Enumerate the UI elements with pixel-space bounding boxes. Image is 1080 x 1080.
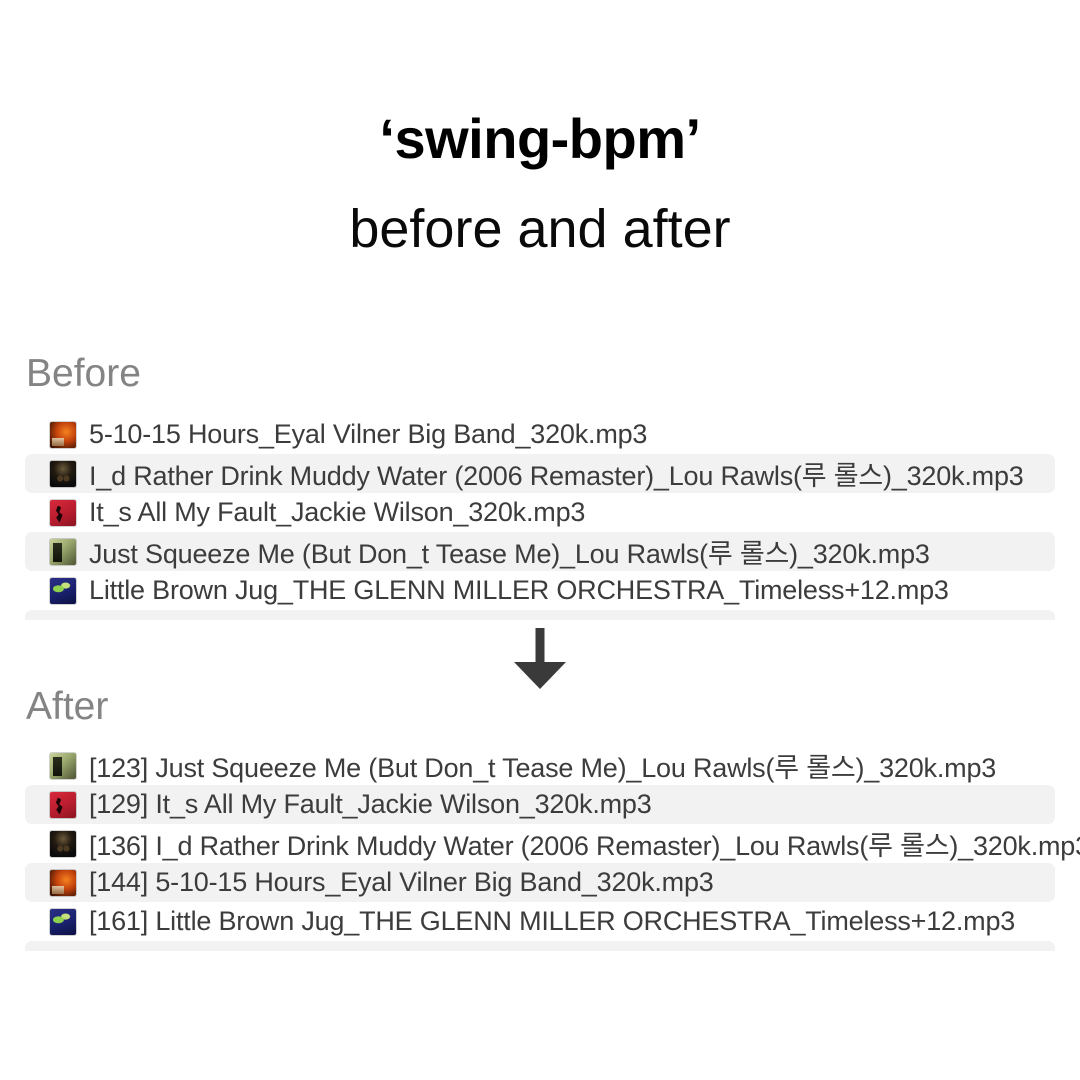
file-row[interactable]: It_s All My Fault_Jackie Wilson_320k.mp3 [25, 493, 1055, 532]
album-art-thumbnail [50, 578, 76, 604]
title-block: ‘swing-bpm’ before and after [0, 108, 1080, 260]
file-row[interactable]: [129] It_s All My Fault_Jackie Wilson_32… [25, 785, 1055, 824]
file-row[interactable]: I_d Rather Drink Muddy Water (2006 Remas… [25, 454, 1055, 493]
file-row[interactable]: [136] I_d Rather Drink Muddy Water (2006… [25, 824, 1055, 863]
file-name: [129] It_s All My Fault_Jackie Wilson_32… [89, 789, 652, 820]
section-label-before: Before [26, 352, 141, 396]
file-name: [144] 5-10-15 Hours_Eyal Vilner Big Band… [89, 867, 714, 898]
file-row[interactable]: [144] 5-10-15 Hours_Eyal Vilner Big Band… [25, 863, 1055, 902]
section-label-after: After [26, 685, 108, 729]
album-art-thumbnail [50, 831, 76, 857]
album-art-thumbnail [50, 870, 76, 896]
page-title: ‘swing-bpm’ [0, 108, 1080, 170]
album-art-thumbnail [50, 909, 76, 935]
file-name: Little Brown Jug_THE GLENN MILLER ORCHES… [89, 575, 949, 606]
file-name: 5-10-15 Hours_Eyal Vilner Big Band_320k.… [89, 419, 647, 450]
file-row[interactable]: [161] Little Brown Jug_THE GLENN MILLER … [25, 902, 1055, 941]
file-name: [161] Little Brown Jug_THE GLENN MILLER … [89, 906, 1015, 937]
album-art-thumbnail [50, 539, 76, 565]
file-name: Just Squeeze Me (But Don_t Tease Me)_Lou… [89, 532, 930, 571]
file-row[interactable]: Little Brown Jug_THE GLENN MILLER ORCHES… [25, 571, 1055, 610]
poster-canvas: ‘swing-bpm’ before and after Before 5-10… [0, 0, 1080, 1080]
file-name: [136] I_d Rather Drink Muddy Water (2006… [89, 824, 1080, 863]
album-art-thumbnail [50, 792, 76, 818]
page-subtitle: before and after [0, 198, 1080, 260]
file-list-before: 5-10-15 Hours_Eyal Vilner Big Band_320k.… [25, 415, 1055, 620]
album-art-thumbnail [50, 422, 76, 448]
file-name: [123] Just Squeeze Me (But Don_t Tease M… [89, 746, 996, 785]
file-row[interactable]: 5-10-15 Hours_Eyal Vilner Big Band_320k.… [25, 415, 1055, 454]
file-row[interactable]: Just Squeeze Me (But Don_t Tease Me)_Lou… [25, 532, 1055, 571]
file-row[interactable]: [123] Just Squeeze Me (But Don_t Tease M… [25, 746, 1055, 785]
file-name: I_d Rather Drink Muddy Water (2006 Remas… [89, 454, 1024, 493]
arrow-down-icon [507, 628, 573, 690]
album-art-thumbnail [50, 753, 76, 779]
file-row-partial [25, 610, 1055, 620]
file-list-after: [123] Just Squeeze Me (But Don_t Tease M… [25, 746, 1055, 951]
file-row-partial [25, 941, 1055, 951]
file-name: It_s All My Fault_Jackie Wilson_320k.mp3 [89, 497, 585, 528]
album-art-thumbnail [50, 500, 76, 526]
album-art-thumbnail [50, 461, 76, 487]
